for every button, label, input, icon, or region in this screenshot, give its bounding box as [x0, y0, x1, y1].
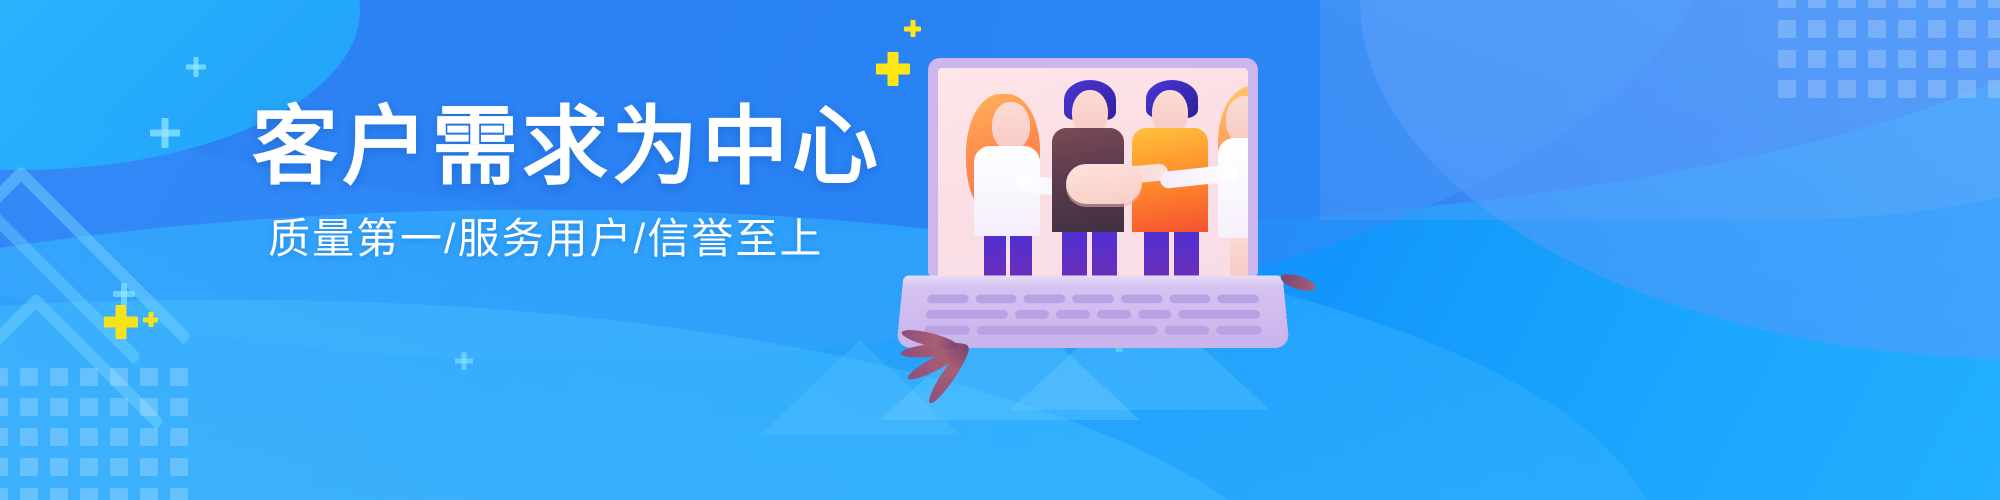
plus-icon: [186, 57, 206, 77]
promotional-banner: 客户需求为中心 质量第一/服务用户/信誉至上: [0, 0, 2000, 500]
plus-icon: [904, 20, 921, 37]
person-woman-orange-hair: [960, 86, 1052, 276]
square-grid-pattern: [1778, 0, 2000, 98]
plus-icon: [150, 118, 180, 148]
square-grid-pattern: [0, 368, 188, 500]
plus-icon: [455, 352, 473, 370]
banner-headline: 客户需求为中心: [252, 104, 872, 190]
plus-icon: [143, 312, 158, 327]
joined-hands: [1066, 164, 1142, 204]
person-woman-white-dress: [1204, 80, 1248, 276]
banner-text-block: 客户需求为中心 质量第一/服务用户/信誉至上: [252, 104, 872, 260]
laptop-illustration: [890, 48, 1320, 358]
leaf-sprig: [900, 263, 990, 353]
screen-content: [938, 68, 1248, 276]
banner-subheadline: 质量第一/服务用户/信誉至上: [268, 218, 872, 260]
laptop-screen: [928, 58, 1258, 276]
plus-icon: [113, 283, 135, 305]
torso: [1218, 138, 1248, 238]
leaf: [1279, 271, 1317, 294]
head: [992, 102, 1030, 150]
plus-icon: [104, 305, 138, 339]
